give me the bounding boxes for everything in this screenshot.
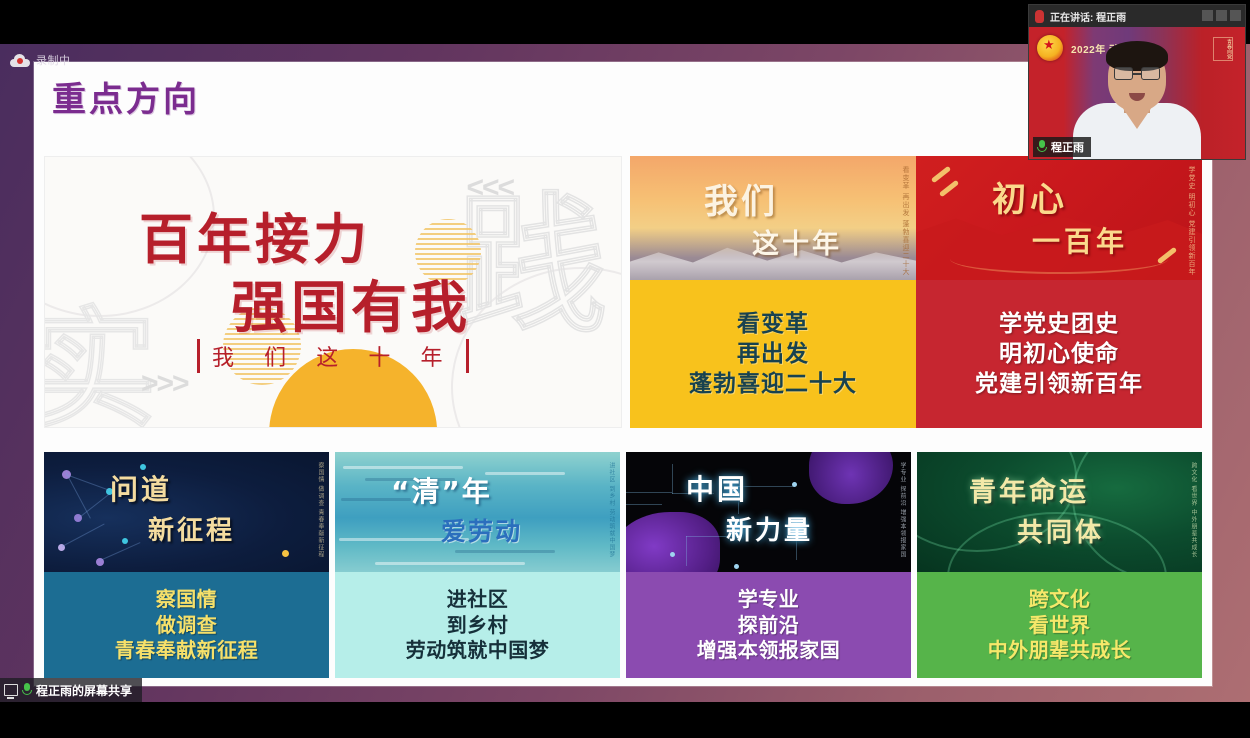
screen-share-label: 程正雨的屏幕共享 (36, 682, 132, 699)
tile-women-shinian: 我们 这十年 看变革 再出发 蓬勃喜迎二十大 (630, 156, 916, 280)
zhongguo-vertical-text: 学专业 探前沿 增强本领报家国 (898, 462, 906, 558)
zhongguo-heading2: 新力量 (726, 510, 813, 547)
tile-women-heading1: 我们 (704, 174, 778, 223)
video-background-seal: 青春向党 (1213, 37, 1233, 61)
active-speaker-label: 正在讲话: 程正雨 (1050, 9, 1126, 24)
hero-chevron-left-icon: <<< (466, 171, 513, 205)
mingyun-heading1: 青年命运 (969, 470, 1089, 509)
qingnian-heading1: “清”年 (391, 470, 492, 510)
gold-spark-1 (931, 166, 951, 183)
column-wendao: 问道 新征程 察国情 做调查 青春奉献新征程 察国情 做调查 青春奉献新征程 (44, 452, 329, 678)
wendao-caption: 察国情 做调查 青春奉献新征程 (44, 572, 329, 678)
screen-share-chip[interactable]: 程正雨的屏幕共享 (0, 678, 142, 702)
screen-share-icon (4, 684, 18, 696)
zhongguo-caption: 学专业 探前沿 增强本领报家国 (626, 572, 911, 678)
xuedangshi-line2: 明初心使命 (999, 340, 1119, 368)
thumbnail-window-controls[interactable] (1202, 10, 1241, 21)
maximize-icon (1216, 10, 1227, 21)
qingnian-caption-line2: 到乡村 (447, 613, 509, 638)
xuedangshi-line1: 学党史团史 (999, 310, 1119, 338)
qingnian-vertical-text: 进社区 到乡村 劳动筑就中国梦 (607, 462, 615, 558)
speaker-video-feed[interactable]: 2022年 动员会 青春向党 程正雨 (1029, 27, 1245, 160)
hero-headline-line2: 强国有我 (231, 263, 471, 344)
minimize-icon (1202, 10, 1213, 21)
tile-chuxin-vertical-text: 学党史 明初心 党建引领新百年 (1186, 166, 1195, 276)
page-title: 重点方向 (52, 72, 200, 121)
statusbar-mic-icon (22, 683, 32, 697)
slide-bottom-row: 问道 新征程 察国情 做调查 青春奉献新征程 察国情 做调查 青春奉献新征程 (44, 452, 1202, 678)
wendao-caption-line1: 察国情 (156, 587, 218, 612)
mic-muted-icon (1035, 10, 1044, 23)
kanbiange-line3: 蓬勃喜迎二十大 (689, 370, 857, 398)
top-right-cluster: 我们 这十年 看变革 再出发 蓬勃喜迎二十大 初心 一百年 学党史 明初心 党建… (630, 156, 1202, 428)
cloud-recording-icon (10, 54, 30, 67)
zhongguo-caption-line2: 探前沿 (738, 613, 800, 638)
tile-chuxin-heading1: 初心 (992, 172, 1068, 221)
purple-blob-right (809, 452, 893, 504)
hero-banner: 践 实 <<< >>> 百年接力 强国有我 我 们 这 十 年 (44, 156, 622, 428)
speaker-name-badge: 程正雨 (1033, 137, 1091, 157)
screen-share-statusbar: 程正雨的屏幕共享 (0, 678, 1250, 702)
tile-chuxin-yibainian: 初心 一百年 学党史 明初心 党建引领新百年 (916, 156, 1202, 280)
textblock-kanbiange: 看变革 再出发 蓬勃喜迎二十大 (630, 280, 916, 428)
speaker-name: 程正雨 (1051, 139, 1084, 155)
wendao-heading2: 新征程 (148, 510, 235, 547)
mingyun-caption: 跨文化 看世界 中外朋辈共成长 (917, 572, 1202, 678)
slide-top-row: 践 实 <<< >>> 百年接力 强国有我 我 们 这 十 年 (44, 156, 1202, 436)
hero-subtitle: 我 们 这 十 年 (212, 340, 454, 372)
zhongguo-caption-line3: 增强本领报家国 (697, 638, 841, 663)
kanbiange-line2: 再出发 (737, 340, 809, 368)
qingnian-caption-line3: 劳动筑就中国梦 (406, 638, 550, 663)
wendao-vertical-text: 察国情 做调查 青春奉献新征程 (316, 462, 324, 558)
zhongguo-caption-line1: 学专业 (738, 587, 800, 612)
tile-women-vertical-text: 看变革 再出发 蓬勃喜迎二十大 (900, 166, 909, 276)
zhongguo-image: 中国 新力量 学专业 探前沿 增强本领报家国 (626, 452, 911, 572)
xuedangshi-line3: 党建引领新百年 (975, 370, 1143, 398)
mingyun-caption-line2: 看世界 (1029, 613, 1091, 638)
mingyun-caption-line1: 跨文化 (1029, 587, 1091, 612)
hero-subtitle-group: 我 们 这 十 年 (197, 339, 469, 373)
active-speaker-thumbnail[interactable]: 正在讲话: 程正雨 2022年 动员会 青春向党 程正雨 (1028, 4, 1246, 160)
column-qingnian-mingyun: 青年命运 共同体 跨文化 看世界 中外朋辈共成长 跨文化 看世界 中外朋辈共成长 (917, 452, 1202, 678)
zoom-meeting-window: 录制中 重点方向 践 实 <<< >>> 百年接力 强国有我 (0, 0, 1250, 738)
textblock-xuedangshi: 学党史团史 明初心使命 党建引领新百年 (916, 280, 1202, 428)
wendao-caption-line2: 做调查 (156, 613, 218, 638)
wendao-caption-line3: 青春奉献新征程 (115, 638, 259, 663)
qingnian-heading2: 爱劳动 (441, 512, 522, 548)
recording-label: 录制中 (36, 52, 71, 68)
qingnian-image: “清”年 爱劳动 进社区 到乡村 劳动筑就中国梦 (335, 452, 620, 572)
tile-women-heading2: 这十年 (752, 222, 842, 261)
hero-subtitle-bar-right (466, 339, 469, 373)
window-letterbox-bottom (0, 702, 1250, 738)
tile-chuxin-heading2: 一百年 (1032, 220, 1128, 260)
hero-ghost-char-left: 实 (44, 265, 157, 428)
purple-blob-left (626, 512, 720, 572)
mingyun-heading2: 共同体 (1017, 512, 1104, 549)
slide-grid: 践 实 <<< >>> 百年接力 强国有我 我 们 这 十 年 (44, 156, 1202, 678)
qingnian-caption-line1: 进社区 (447, 587, 509, 612)
youth-league-emblem-icon (1037, 35, 1063, 61)
mic-active-icon (1037, 140, 1047, 154)
hero-chevron-right-icon: >>> (141, 367, 188, 401)
wendao-heading1: 问道 (110, 468, 172, 508)
column-zhongguo-xinliliang: 中国 新力量 学专业 探前沿 增强本领报家国 学专业 探前沿 增强本领报家国 (626, 452, 911, 678)
mingyun-caption-line3: 中外朋辈共成长 (988, 638, 1132, 663)
close-icon (1230, 10, 1241, 21)
mingyun-vertical-text: 跨文化 看世界 中外朋辈共成长 (1189, 462, 1197, 558)
thumbnail-titlebar[interactable]: 正在讲话: 程正雨 (1029, 5, 1245, 27)
wendao-image: 问道 新征程 察国情 做调查 青春奉献新征程 (44, 452, 329, 572)
qingnian-caption: 进社区 到乡村 劳动筑就中国梦 (335, 572, 620, 678)
recording-indicator[interactable]: 录制中 (10, 52, 71, 68)
gold-spark-2 (939, 180, 959, 197)
mingyun-image: 青年命运 共同体 跨文化 看世界 中外朋辈共成长 (917, 452, 1202, 572)
zhongguo-heading1: 中国 (686, 468, 748, 508)
column-qingnian-ailaodong: “清”年 爱劳动 进社区 到乡村 劳动筑就中国梦 进社区 到乡村 劳动筑就中国梦 (335, 452, 620, 678)
hero-subtitle-bar-left (197, 339, 200, 373)
kanbiange-line1: 看变革 (737, 310, 809, 338)
